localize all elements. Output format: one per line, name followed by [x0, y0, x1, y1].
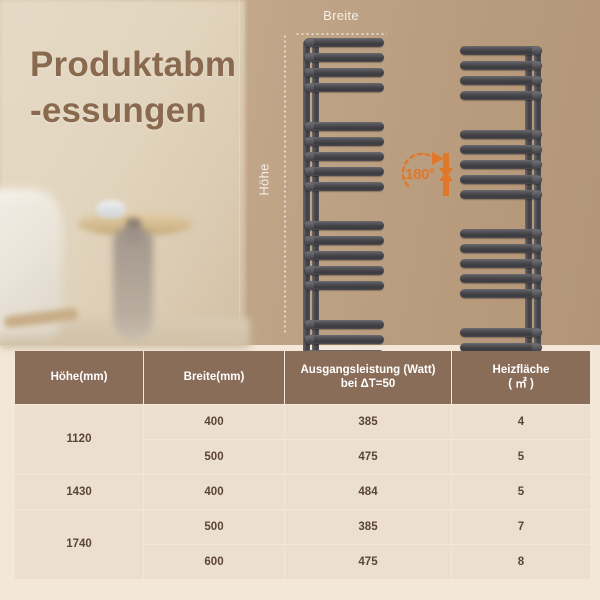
width-dimension-label: Breite: [296, 8, 386, 23]
radiator-bar: [304, 182, 384, 191]
cell-hoehe: 1120: [15, 405, 143, 474]
specification-table-wrapper: Höhe(mm) Breite(mm) Ausgangsleistung (Wa…: [14, 350, 586, 580]
radiator-bar: [460, 229, 542, 238]
radiator-connector: [532, 290, 541, 297]
cell-heizflaeche: 4: [452, 405, 590, 439]
radiator-bar: [304, 83, 384, 92]
radiator-connector: [305, 321, 314, 328]
column-header-leistung: Ausgangsleistung (Watt) bei ΔT=50: [285, 351, 451, 404]
radiator-connector: [305, 222, 314, 229]
radiator-bar: [460, 76, 542, 85]
radiator-bar: [304, 167, 384, 176]
radiator-bar: [460, 328, 542, 337]
radiator-connector: [532, 275, 541, 282]
radiator-bar: [304, 38, 384, 47]
radiator-connector: [305, 69, 314, 76]
height-dimension-guide: [284, 34, 286, 334]
table-body: 1120400385450047551430400484517405003857…: [15, 405, 590, 579]
cell-breite: 400: [144, 405, 284, 439]
radiator-bar: [304, 137, 384, 146]
column-header-hoehe-text: Höhe(mm): [51, 371, 108, 383]
table-row: 14304004845: [15, 475, 590, 509]
infographic-canvas: Produktabm -essungen Breite Höhe 180°: [0, 0, 600, 600]
radiator-bar: [460, 244, 542, 253]
cell-leistung: 385: [285, 510, 451, 544]
radiator-connector: [532, 161, 541, 168]
radiator-bar: [304, 320, 384, 329]
radiator-connector: [305, 183, 314, 190]
radiator-connector: [532, 131, 541, 138]
radiator-bar: [304, 68, 384, 77]
specification-table: Höhe(mm) Breite(mm) Ausgangsleistung (Wa…: [14, 350, 591, 580]
radiator-bar: [460, 289, 542, 298]
radiator-bar: [460, 274, 542, 283]
radiator-bar: [460, 160, 542, 169]
radiator-connector: [532, 62, 541, 69]
page-title-line2: -essungen: [30, 88, 280, 134]
radiator-connector: [305, 336, 314, 343]
radiator-bar: [460, 259, 542, 268]
radiator-connector: [305, 267, 314, 274]
radiator-bar: [460, 190, 542, 199]
radiator-connector: [532, 260, 541, 267]
column-header-leistung-text: Ausgangsleistung (Watt): [300, 364, 435, 376]
radiator-bar: [460, 130, 542, 139]
column-header-heizflaeche: Heizfläche ( ㎡ ): [452, 351, 590, 404]
radiator-connector: [305, 123, 314, 130]
cell-leistung: 475: [285, 545, 451, 579]
radiator-bar: [304, 236, 384, 245]
radiator-right: [458, 46, 558, 336]
radiator-connector: [305, 138, 314, 145]
rotate-180-indicator: 180°: [398, 146, 460, 204]
radiator-bar: [304, 266, 384, 275]
radiator-bar: [460, 175, 542, 184]
table-row: 11204003854: [15, 405, 590, 439]
radiator-connector: [532, 230, 541, 237]
cell-leistung: 385: [285, 405, 451, 439]
radiator-connector: [305, 39, 314, 46]
radiator-connector: [532, 245, 541, 252]
radiator-bar: [304, 335, 384, 344]
radiator-connector: [532, 191, 541, 198]
radiator-connector: [305, 84, 314, 91]
cell-heizflaeche: 7: [452, 510, 590, 544]
cell-hoehe: 1740: [15, 510, 143, 579]
table-row: 17405003857: [15, 510, 590, 544]
background-vase: [113, 228, 153, 340]
cell-heizflaeche: 8: [452, 545, 590, 579]
radiator-connector: [305, 282, 314, 289]
radiator-left: [288, 38, 386, 334]
radiator-bar: [304, 221, 384, 230]
radiator-connector: [305, 168, 314, 175]
page-title-line1: Produktabm: [30, 45, 236, 84]
radiator-connector: [305, 237, 314, 244]
rotate-180-label: 180°: [398, 166, 442, 183]
radiator-bar: [304, 251, 384, 260]
column-header-heizflaeche-text: Heizfläche: [493, 364, 550, 376]
radiator-bar: [304, 281, 384, 290]
column-header-heizflaeche-subtext: ( ㎡ ): [508, 378, 534, 390]
width-dimension-guide: [295, 33, 387, 35]
cell-hoehe: 1430: [15, 475, 143, 509]
cell-leistung: 475: [285, 440, 451, 474]
radiator-bar: [304, 122, 384, 131]
radiator-bar: [460, 145, 542, 154]
radiator-connector: [532, 92, 541, 99]
cell-leistung: 484: [285, 475, 451, 509]
radiator-connector: [305, 153, 314, 160]
radiator-connector: [532, 77, 541, 84]
radiator-connector: [305, 54, 314, 61]
radiator-connector: [532, 329, 541, 336]
radiator-bar: [304, 152, 384, 161]
radiator-bar: [460, 61, 542, 70]
column-header-breite-text: Breite(mm): [184, 371, 245, 383]
table-head: Höhe(mm) Breite(mm) Ausgangsleistung (Wa…: [15, 351, 590, 404]
cell-breite: 500: [144, 510, 284, 544]
page-title: Produktabm -essungen: [30, 42, 280, 134]
cell-breite: 600: [144, 545, 284, 579]
radiator-bar: [460, 46, 542, 55]
radiator-connector: [532, 47, 541, 54]
column-header-hoehe: Höhe(mm): [15, 351, 143, 404]
table-header-row: Höhe(mm) Breite(mm) Ausgangsleistung (Wa…: [15, 351, 590, 404]
radiator-connector: [305, 252, 314, 259]
radiator-bar: [304, 53, 384, 62]
cell-heizflaeche: 5: [452, 475, 590, 509]
column-header-breite: Breite(mm): [144, 351, 284, 404]
background-cup: [96, 200, 126, 218]
radiator-bar: [460, 91, 542, 100]
cell-heizflaeche: 5: [452, 440, 590, 474]
radiator-connector: [532, 146, 541, 153]
cell-breite: 500: [144, 440, 284, 474]
radiator-connector: [532, 176, 541, 183]
cell-breite: 400: [144, 475, 284, 509]
height-dimension-label: Höhe: [257, 163, 272, 195]
column-header-leistung-subtext: bei ΔT=50: [341, 378, 396, 390]
